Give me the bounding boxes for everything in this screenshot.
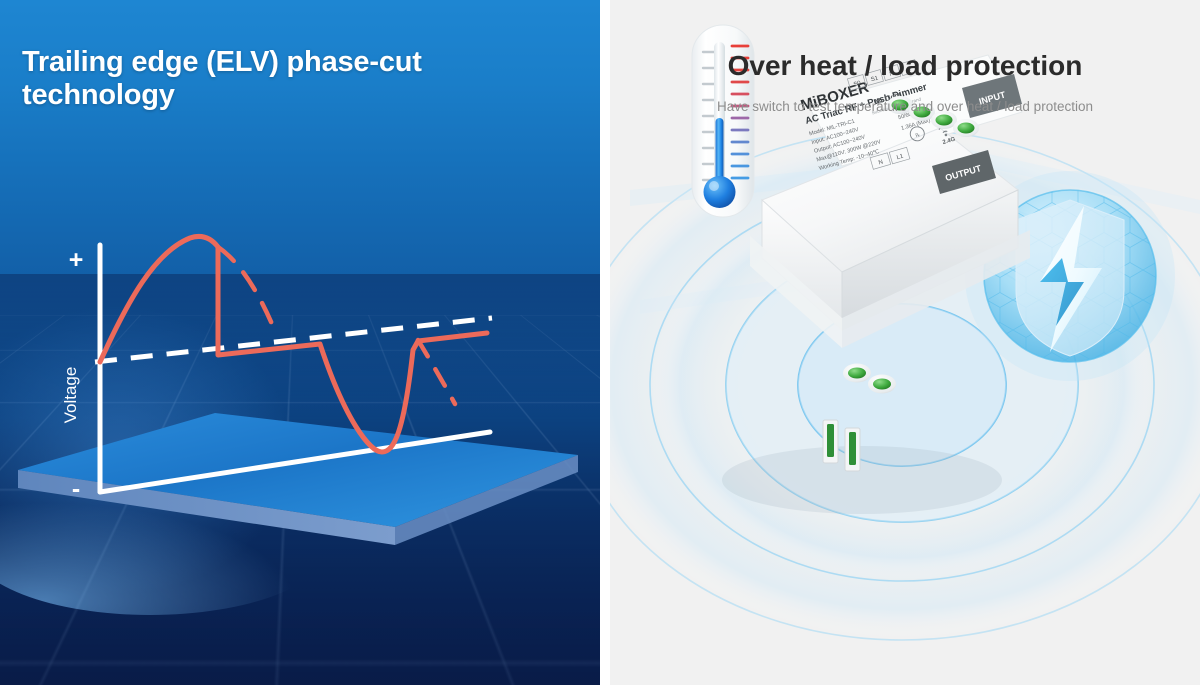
left-panel-title: Trailing edge (ELV) phase-cut technology — [22, 46, 582, 112]
product-feature-banner: + - Voltage Trailing edge (ELV) phase-cu… — [0, 0, 1200, 685]
right-panel-overheat: INPUT OUTPUT MiBOXER AC Triac RF + Push … — [610, 0, 1200, 685]
axis-negative-marker: - — [72, 475, 80, 503]
right-panel-title: Over heat / load protection — [610, 50, 1200, 82]
waveform-path — [100, 236, 487, 452]
thermometer-bulb — [704, 176, 736, 208]
device-output-terminals — [843, 364, 896, 394]
right-panel-subtitle: Have switch to test temperature and over… — [610, 99, 1200, 114]
device-shadow — [722, 446, 1002, 514]
axis-positive-marker: + — [69, 246, 84, 274]
panel-divider — [600, 0, 610, 685]
y-axis-label: Voltage — [61, 367, 80, 424]
waveform-dashed-negative — [418, 340, 455, 404]
waveform-dashed-positive — [218, 247, 272, 324]
left-panel-phase-cut: + - Voltage Trailing edge (ELV) phase-cu… — [0, 0, 600, 685]
thermometer-bulb-highlight — [709, 181, 719, 191]
